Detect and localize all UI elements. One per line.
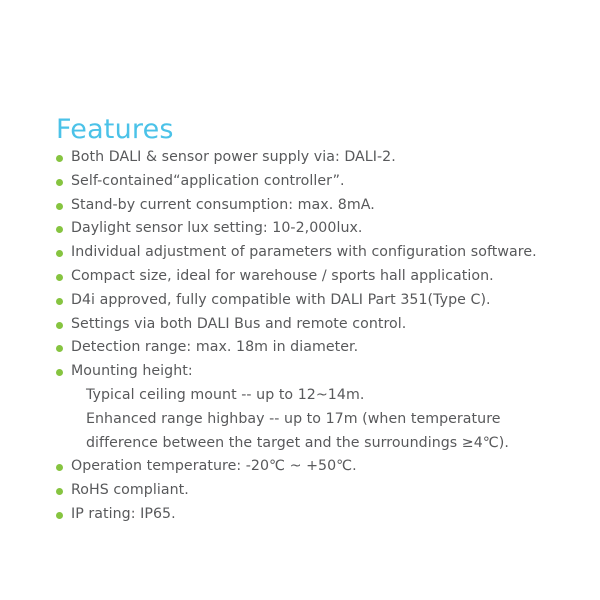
list-item: Daylight sensor lux setting: 10-2,000lux…: [56, 217, 576, 241]
list-item-label: Compact size, ideal for warehouse / spor…: [71, 265, 576, 289]
bullet-dot-icon: [56, 203, 63, 210]
list-item: RoHS compliant.: [56, 479, 576, 503]
bullet-dot-icon: [56, 512, 63, 519]
bullet-dot-icon: [56, 369, 63, 376]
bullet-dot-icon: [56, 274, 63, 281]
list-item: Individual adjustment of parameters with…: [56, 241, 576, 265]
features-list: Both DALI & sensor power supply via: DAL…: [56, 146, 576, 527]
page-title: Features: [56, 115, 174, 145]
features-page: Features Both DALI & sensor power supply…: [0, 0, 600, 600]
list-item: D4i approved, fully compatible with DALI…: [56, 289, 576, 313]
bullet-dot-icon: [56, 345, 63, 352]
list-item-label: Stand-by current consumption: max. 8mA.: [71, 194, 576, 218]
bullet-dot-icon: [56, 155, 63, 162]
mounting-height-sublist: Typical ceiling mount -- up to 12~14m. E…: [71, 384, 576, 455]
list-item-label: Individual adjustment of parameters with…: [71, 241, 576, 265]
sub-list-item: Typical ceiling mount -- up to 12~14m.: [71, 384, 576, 408]
bullet-dot-icon: [56, 179, 63, 186]
list-item-label: Mounting height:: [71, 360, 576, 384]
list-item: Self-contained“application controller”.: [56, 170, 576, 194]
bullet-dot-icon: [56, 250, 63, 257]
list-item-label: IP rating: IP65.: [71, 503, 576, 527]
list-item-label: Both DALI & sensor power supply via: DAL…: [71, 146, 576, 170]
list-item: Detection range: max. 18m in diameter.: [56, 336, 576, 360]
list-item-label: RoHS compliant.: [71, 479, 576, 503]
sub-list-item: Enhanced range highbay -- up to 17m (whe…: [71, 408, 576, 456]
list-item-label: Operation temperature: -20℃ ~ +50℃.: [71, 455, 576, 479]
bullet-dot-icon: [56, 226, 63, 233]
list-item-label: Self-contained“application controller”.: [71, 170, 576, 194]
bullet-dot-icon: [56, 488, 63, 495]
list-item: Settings via both DALI Bus and remote co…: [56, 313, 576, 337]
list-item: IP rating: IP65.: [56, 503, 576, 527]
list-item-mounting-height: Mounting height: Typical ceiling mount -…: [56, 360, 576, 455]
list-item: Compact size, ideal for warehouse / spor…: [56, 265, 576, 289]
list-item-label: Settings via both DALI Bus and remote co…: [71, 313, 576, 337]
list-item-label: Daylight sensor lux setting: 10-2,000lux…: [71, 217, 576, 241]
bullet-dot-icon: [56, 322, 63, 329]
list-item-label: Detection range: max. 18m in diameter.: [71, 336, 576, 360]
bullet-dot-icon: [56, 298, 63, 305]
list-item: Stand-by current consumption: max. 8mA.: [56, 194, 576, 218]
list-item-label: D4i approved, fully compatible with DALI…: [71, 289, 576, 313]
list-item: Operation temperature: -20℃ ~ +50℃.: [56, 455, 576, 479]
bullet-dot-icon: [56, 464, 63, 471]
list-item: Both DALI & sensor power supply via: DAL…: [56, 146, 576, 170]
